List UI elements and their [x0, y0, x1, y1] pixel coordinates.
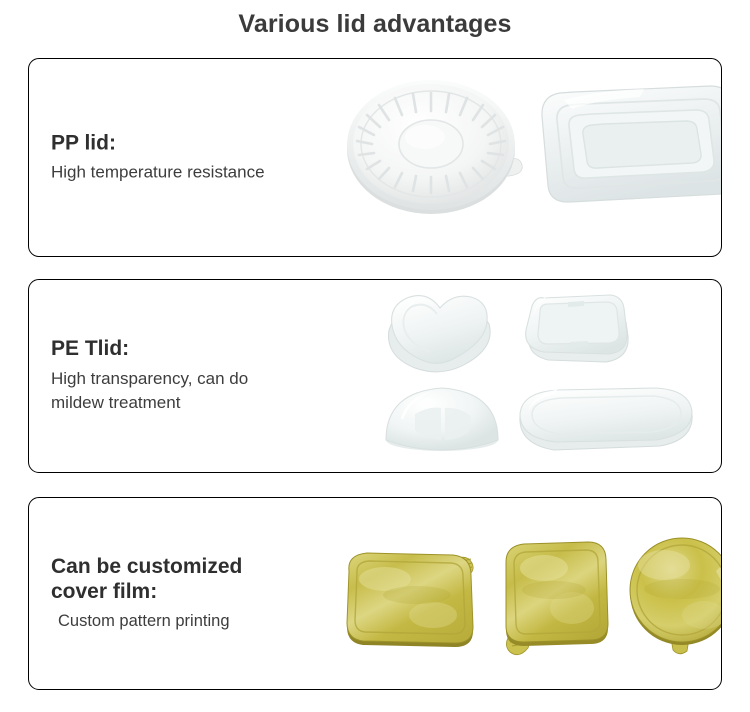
card-pp-lid[interactable]: PP lid: High temperature resistance	[28, 58, 722, 257]
square-pe-lid-image	[514, 282, 642, 370]
card-cover-film-images	[329, 498, 721, 689]
card-cover-film-description: Custom pattern printing	[51, 610, 301, 634]
oval-pe-lid-image	[514, 382, 699, 456]
heart-shaped-pe-lid-image	[377, 288, 507, 380]
rectangular-pp-lid-image	[534, 64, 722, 224]
dome-pe-lid-image	[381, 378, 503, 454]
gold-round-foil-lid-image	[624, 533, 722, 661]
card-pp-lid-description: High temperature resistance	[51, 160, 331, 185]
gold-square-foil-lid-image	[494, 536, 616, 661]
card-pe-lid-text: PE Tlid: High transparency, can do milde…	[51, 336, 331, 416]
page-title: Various lid advantages	[0, 0, 750, 39]
card-pp-lid-images	[329, 59, 721, 256]
card-cover-film[interactable]: Can be customized cover film: Custom pat…	[28, 497, 722, 690]
card-pp-lid-heading: PP lid:	[51, 130, 331, 156]
card-pe-lid-description: High transparency, can do mildew treatme…	[51, 367, 331, 416]
card-cover-film-heading: Can be customized cover film:	[51, 553, 301, 604]
card-pp-lid-text: PP lid: High temperature resistance	[51, 130, 331, 185]
card-pe-lid-heading: PE Tlid:	[51, 336, 331, 362]
round-pp-lid-image	[343, 67, 533, 222]
card-cover-film-text: Can be customized cover film: Custom pat…	[51, 553, 301, 633]
card-pe-lid[interactable]: PE Tlid: High transparency, can do milde…	[28, 279, 722, 473]
gold-rectangular-foil-lid-image	[337, 545, 487, 655]
card-pe-lid-images	[329, 280, 721, 472]
lid-advantage-cards: PP lid: High temperature resistance	[28, 58, 722, 690]
